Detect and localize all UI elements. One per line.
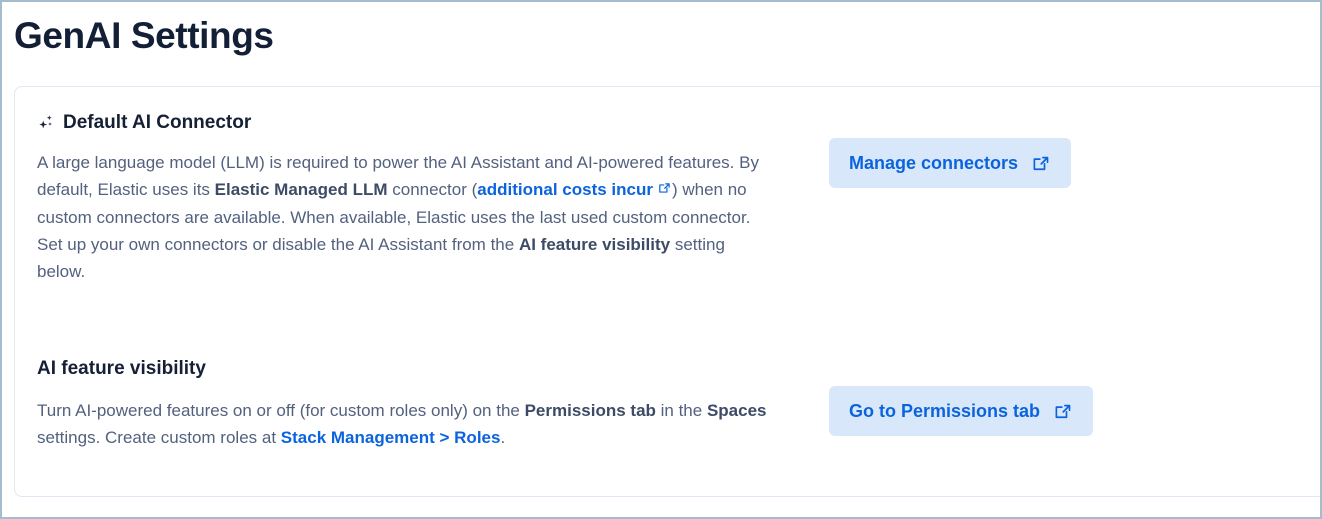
- text-bold-elastic-managed-llm: Elastic Managed LLM: [215, 180, 388, 199]
- text-part-1: Turn AI-powered features on or off (for …: [37, 401, 525, 420]
- additional-costs-incur-link[interactable]: additional costs incur: [477, 180, 672, 199]
- link-label: additional costs incur: [477, 180, 653, 199]
- go-to-permissions-tab-button[interactable]: Go to Permissions tab: [829, 386, 1093, 436]
- section-action-area: Go to Permissions tab: [777, 357, 1303, 436]
- text-bold-spaces: Spaces: [707, 401, 767, 420]
- section-heading-label: AI feature visibility: [37, 357, 206, 381]
- section-action-area: Manage connectors: [777, 111, 1303, 188]
- text-part-2: connector (: [388, 180, 478, 199]
- settings-panel: Default AI Connector A large language mo…: [14, 86, 1322, 497]
- external-link-icon: [1053, 402, 1073, 422]
- ai-feature-visibility-heading: AI feature visibility: [37, 357, 777, 381]
- section-spacer: [37, 285, 1303, 357]
- ai-feature-visibility-description: Turn AI-powered features on or off (for …: [37, 397, 777, 451]
- section-content: Default AI Connector A large language mo…: [37, 111, 777, 285]
- default-ai-connector-heading: Default AI Connector: [37, 111, 777, 135]
- text-part-4: .: [500, 428, 505, 447]
- section-heading-label: Default AI Connector: [63, 111, 251, 135]
- section-default-ai-connector: Default AI Connector A large language mo…: [37, 111, 1303, 285]
- stack-management-roles-link[interactable]: Stack Management > Roles: [281, 428, 501, 447]
- external-link-icon: [1031, 154, 1051, 174]
- text-part-2: in the: [656, 401, 707, 420]
- button-label: Go to Permissions tab: [849, 386, 1040, 436]
- button-label: Manage connectors: [849, 138, 1018, 188]
- genai-settings-screen: GenAI Settings Default AI Connector: [0, 0, 1322, 519]
- manage-connectors-button[interactable]: Manage connectors: [829, 138, 1071, 188]
- external-link-icon: [657, 177, 672, 204]
- section-ai-feature-visibility: AI feature visibility Turn AI-powered fe…: [37, 357, 1303, 451]
- sparkles-icon: [37, 114, 55, 132]
- section-content: AI feature visibility Turn AI-powered fe…: [37, 357, 777, 451]
- page-title: GenAI Settings: [2, 2, 1320, 58]
- default-ai-connector-description: A large language model (LLM) is required…: [37, 149, 777, 285]
- text-bold-ai-feature-visibility: AI feature visibility: [519, 235, 670, 254]
- text-part-3: settings. Create custom roles at: [37, 428, 281, 447]
- text-bold-permissions-tab: Permissions tab: [525, 401, 656, 420]
